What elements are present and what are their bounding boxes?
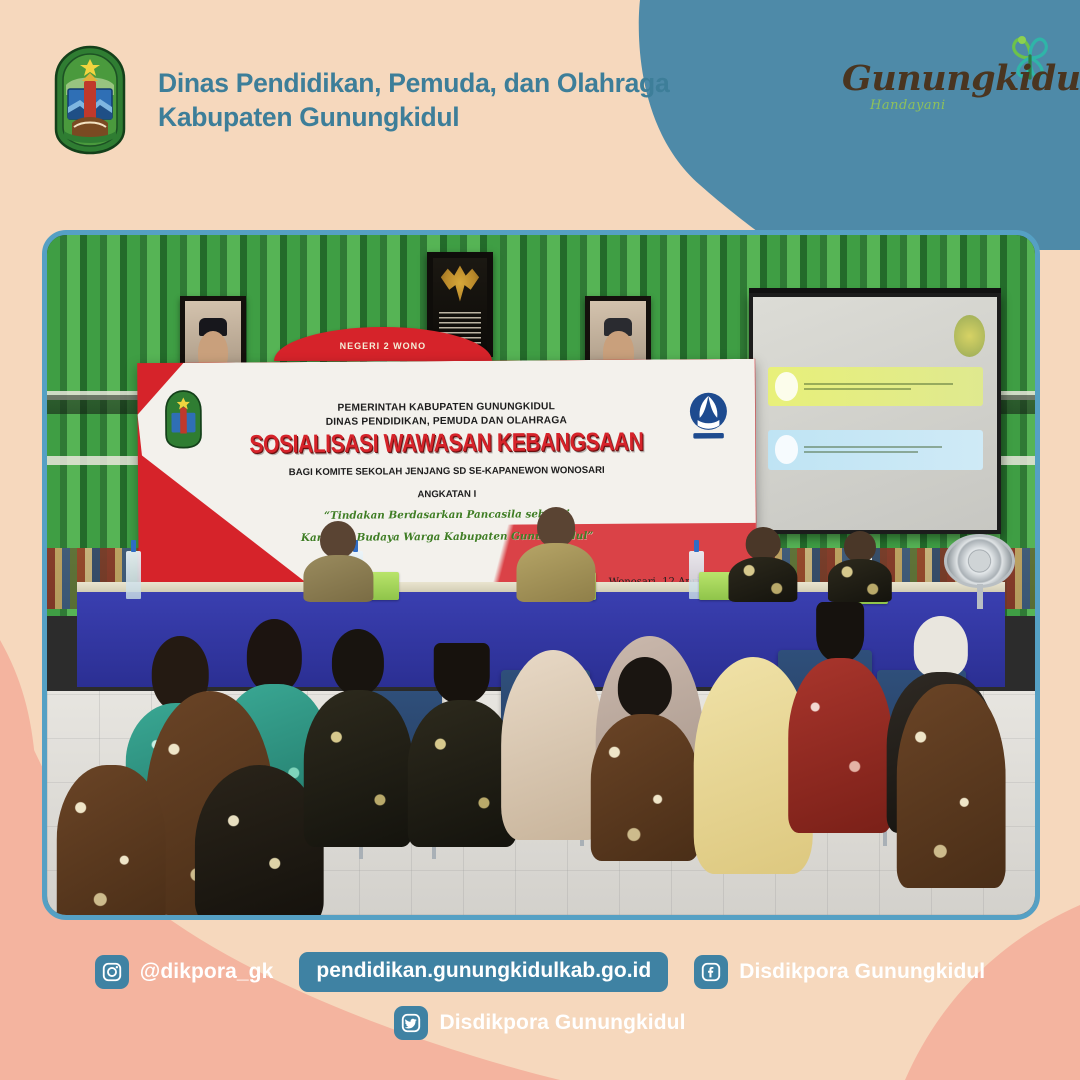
twitter-handle: Disdikpora Gunungkidul: [439, 1011, 685, 1035]
audience-member: [57, 765, 166, 915]
standing-fan-icon: [944, 534, 1015, 609]
event-banner: PEMERINTAH KABUPATEN GUNUNGKIDUL DINAS P…: [137, 359, 756, 598]
website-url-button[interactable]: pendidikan.gunungkidulkab.go.id: [299, 952, 668, 992]
page-title-line-1: Dinas Pendidikan, Pemuda, dan Olahraga: [158, 66, 669, 100]
audience-member: [788, 602, 892, 833]
banner-gov-line-2: DINAS PENDIDIKAN, PEMUDA DAN OLAHRAGA: [326, 414, 567, 429]
instagram-handle: @dikpora_gk: [140, 960, 274, 984]
facebook-page-name: Disdikpora Gunungkidul: [739, 960, 985, 984]
event-photo-frame: NEGERI 2 WONO: [42, 230, 1040, 920]
footer-row-primary: @dikpora_gk pendidikan.gunungkidulkab.go…: [0, 952, 1080, 992]
social-footer: @dikpora_gk pendidikan.gunungkidulkab.go…: [0, 930, 1080, 1080]
twitter-icon[interactable]: [394, 1006, 428, 1040]
panel-guest: [729, 527, 798, 602]
header-title-group: Dinas Pendidikan, Pemuda, dan Olahraga K…: [158, 66, 669, 134]
page-title-line-2: Kabupaten Gunungkidul: [158, 100, 669, 134]
instagram-icon[interactable]: [95, 955, 129, 989]
facebook-account[interactable]: Disdikpora Gunungkidul: [694, 955, 985, 989]
banner-arc-text: NEGERI 2 WONO: [274, 341, 491, 351]
speaker-seated: [304, 521, 373, 603]
audience-member: [590, 657, 699, 861]
poster-canvas: Dinas Pendidikan, Pemuda, dan Olahraga K…: [0, 0, 1080, 1080]
event-photo: NEGERI 2 WONO: [47, 235, 1035, 915]
banner-gov-line-1: PEMERINTAH KABUPATEN GUNUNGKIDUL: [337, 400, 555, 415]
water-bottle: [126, 551, 141, 599]
brand-wordmark: Gunungkidul: [842, 60, 1080, 98]
brand-tagline: Handayani: [870, 98, 946, 113]
poster-header: Dinas Pendidikan, Pemuda, dan Olahraga K…: [0, 0, 700, 200]
gunungkidul-brand: Gunungkidul Handayani: [842, 28, 1062, 138]
audience-member: [408, 643, 517, 847]
banner-subtitle-line-2: ANGKATAN I: [417, 487, 476, 501]
banner-title: SOSIALISASI WAWASAN KEBANGSAAN: [249, 428, 643, 460]
gunungkidul-regency-crest-icon: [44, 45, 136, 155]
footer-row-secondary: Disdikpora Gunungkidul: [0, 1006, 1080, 1040]
banner-subtitle-line-1: BAGI KOMITE SEKOLAH JENJANG SD SE-KAPANE…: [289, 464, 605, 480]
audience-member: [304, 629, 413, 847]
speaker-standing: [516, 507, 595, 602]
projector-screen-icon: [749, 293, 1001, 534]
audience-member: [897, 684, 1006, 888]
twitter-account[interactable]: Disdikpora Gunungkidul: [394, 1006, 685, 1040]
panel-guest: [828, 531, 892, 602]
facebook-icon[interactable]: [694, 955, 728, 989]
instagram-account[interactable]: @dikpora_gk: [95, 955, 274, 989]
